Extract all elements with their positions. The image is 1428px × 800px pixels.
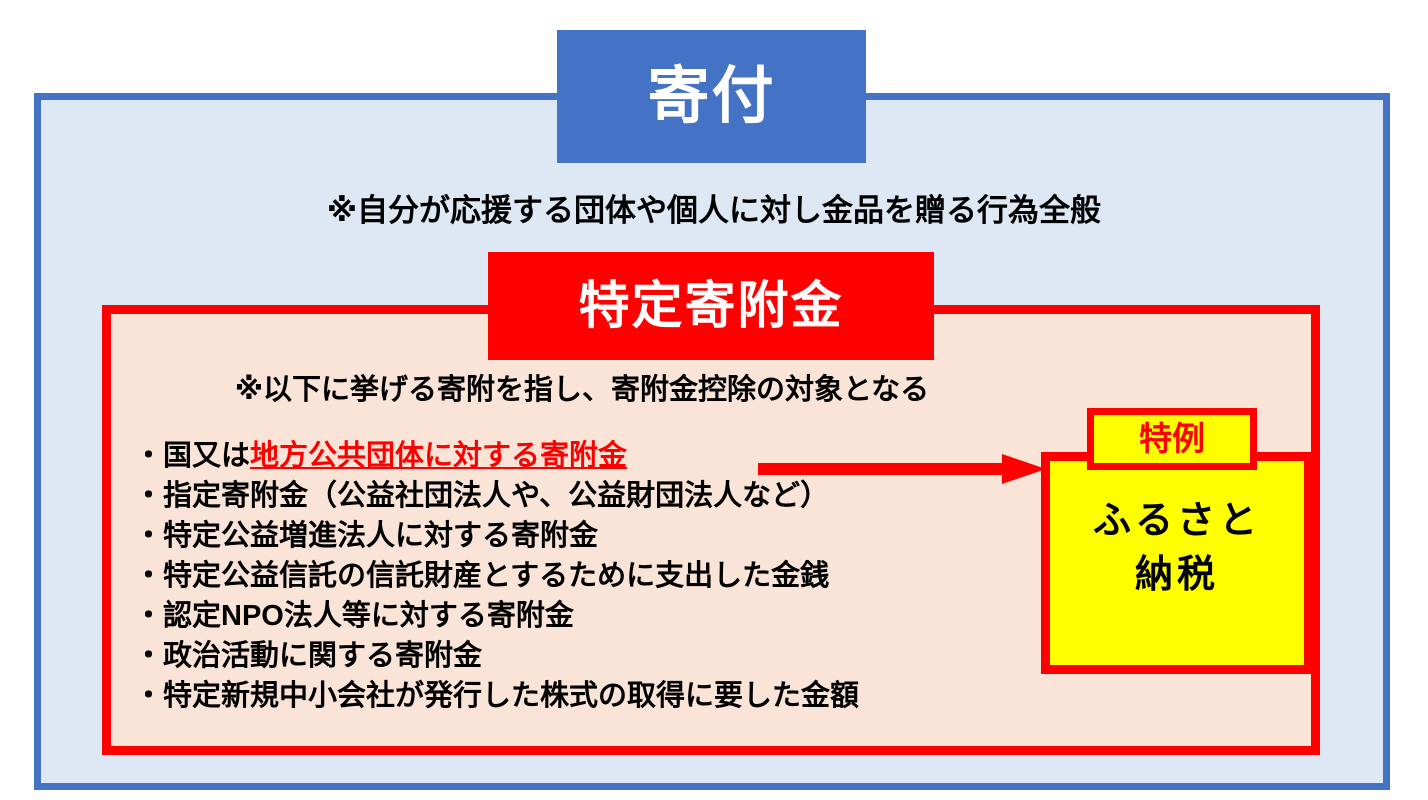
bullet-marker: ・ [134,440,163,472]
bullet-marker: ・ [134,520,163,552]
arrow-right-icon [758,452,1046,486]
bullet-marker: ・ [134,480,163,512]
bullet-marker: ・ [134,680,163,712]
list-item-highlight: 地方公共団体に対する寄附金 [250,440,627,472]
bullet-marker: ・ [134,640,163,672]
list-item-text: 特定公益増進法人に対する寄附金 [163,520,598,552]
list-item-text: 国又は [163,440,250,472]
list-item-text: 認定NPO法人等に対する寄附金 [163,600,574,632]
bullet-marker: ・ [134,560,163,592]
donation-definition-note: ※自分が応援する団体や個人に対し金品を贈る行為全般 [0,185,1428,230]
list-item: ・特定公益信託の信託財産とするために支出した金銭 [134,556,1094,596]
callout-body: ふるさと 納税 [1041,494,1313,602]
callout-line-1: ふるさと [1041,494,1313,548]
specified-donation-title-banner: 特定寄附金 [488,252,934,360]
list-item-text: 指定寄附金（公益社団法人や、公益財団法人など） [163,480,829,512]
list-item-text: 特定新規中小会社が発行した株式の取得に要した金額 [163,680,859,712]
list-item: ・特定新規中小会社が発行した株式の取得に要した金額 [134,676,1094,716]
list-item: ・認定NPO法人等に対する寄附金 [134,596,1094,636]
list-item-text: 政治活動に関する寄附金 [163,640,482,672]
callout-special-case-label: 特例 [1087,408,1257,470]
bullet-marker: ・ [134,600,163,632]
list-item: ・政治活動に関する寄附金 [134,636,1094,676]
donation-title-banner: 寄付 [557,30,866,163]
list-item-text: 特定公益信託の信託財産とするために支出した金銭 [163,560,829,592]
list-item: ・特定公益増進法人に対する寄附金 [134,516,1094,556]
specified-donation-note: ※以下に挙げる寄附を指し、寄附金控除の対象となる [102,366,1062,408]
callout-line-2: 納税 [1041,548,1313,602]
